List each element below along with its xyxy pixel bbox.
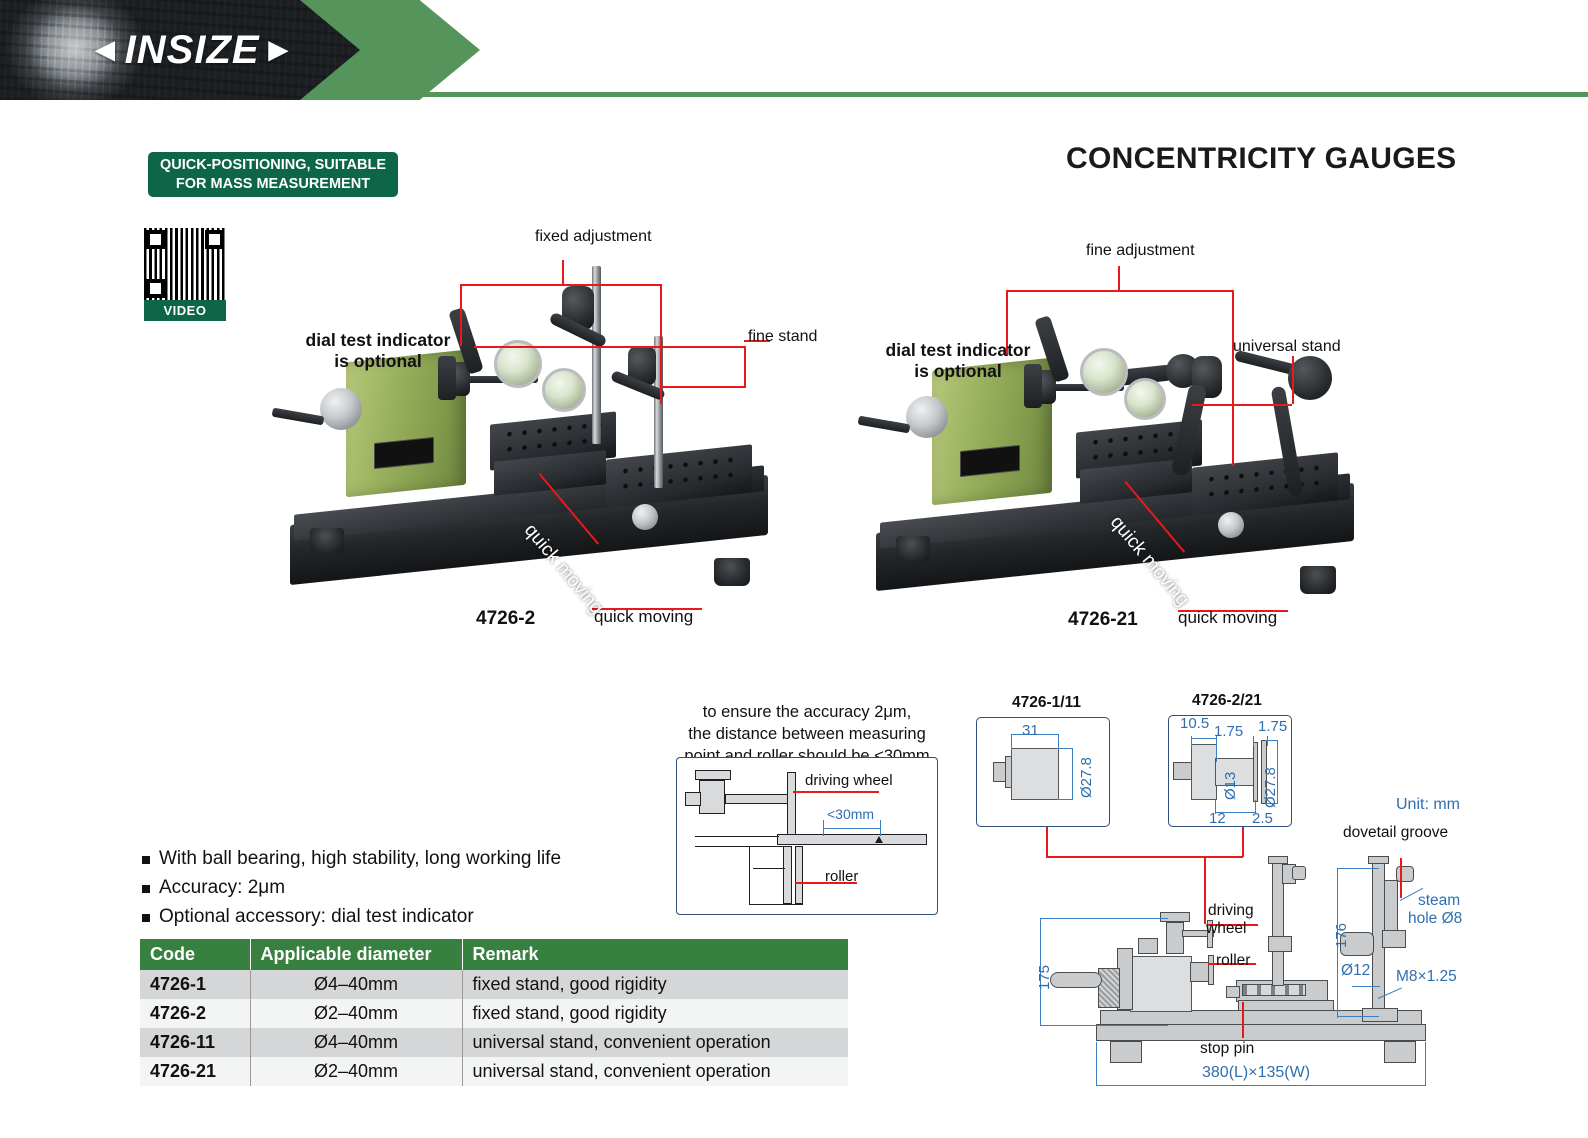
main-foot-left: [1110, 1041, 1142, 1063]
dim-176-tick-bottom: [1337, 1016, 1379, 1017]
dovetail-label: dovetail groove: [1343, 824, 1448, 842]
unit-note: Unit: mm: [1396, 796, 1460, 814]
detail-2-connector-v: [1242, 827, 1244, 857]
main-top-knob: [1138, 938, 1158, 954]
detail-2-d3: 1.75: [1258, 718, 1287, 735]
stop-pin-label: stop pin: [1200, 1040, 1254, 1058]
dim-175-tick-top: [1040, 918, 1168, 919]
main-foot-right: [1384, 1041, 1416, 1063]
detail-title-2: 4726-2/21: [1192, 692, 1262, 710]
detail-2-d2: 1.75: [1214, 723, 1243, 740]
detail-2-d5: Ø27.8: [1262, 767, 1279, 808]
detail-connector-h: [1046, 856, 1243, 858]
detail-2-d1: 10.5: [1180, 715, 1209, 732]
dim-footprint-line: [1096, 1085, 1426, 1086]
dim-d12-line: [1352, 986, 1380, 987]
main-column-1-cap: [1268, 856, 1288, 864]
detail-connector-down: [1204, 856, 1206, 924]
main-upper-block: [1166, 922, 1184, 954]
main-handle-lever: [1050, 972, 1102, 988]
detail-2-d6: 12: [1209, 810, 1226, 827]
d2-shaft: [1173, 762, 1193, 780]
steam-hole-label-1: steam: [1418, 892, 1460, 910]
dim-footprint-tick-r: [1425, 1042, 1426, 1086]
d1-dia-dim-line: [1072, 748, 1073, 800]
main-upper-cap: [1160, 912, 1190, 922]
d2-boss: [1191, 744, 1217, 800]
dim-d12-label: Ø12: [1341, 962, 1370, 980]
detail-1-diameter: Ø27.8: [1078, 757, 1095, 798]
detail-2-d7: 2.5: [1252, 810, 1273, 827]
dim-footprint-label: 380(L)×135(W): [1202, 1064, 1310, 1082]
d1-body: [1011, 748, 1059, 800]
main-stage-knob: [1226, 986, 1240, 998]
detail-1-connector-v: [1046, 827, 1048, 857]
main-headstock-body: [1130, 956, 1192, 1012]
main-base-plate: [1096, 1024, 1426, 1041]
d1-width-tick-l: [1011, 734, 1012, 750]
d2-t3: [1253, 736, 1254, 746]
dim-thread-label: M8×1.25: [1396, 968, 1457, 986]
stop-pin-leader: [1242, 1002, 1244, 1038]
dim-176-tick-top: [1337, 868, 1379, 869]
dim-footprint-tick-l: [1096, 1042, 1097, 1086]
main-holder-clamp: [1382, 930, 1406, 948]
d1-dia-tick-b: [1057, 799, 1073, 800]
main-column-1-knob: [1292, 866, 1306, 880]
technical-drawings: 4726-1/11 31 Ø27.8 4726-2/21 10.5 1.75 1…: [0, 0, 1588, 1138]
steam-hole-label-2: hole Ø8: [1408, 910, 1462, 928]
d2-disc-1: [1253, 742, 1258, 802]
dovetail-leader: [1400, 858, 1402, 898]
d2-dia-tick-t: [1265, 740, 1278, 741]
dim-176-label: 176: [1333, 923, 1350, 948]
main-holder-knob: [1396, 866, 1414, 882]
roller-label: roller: [1216, 952, 1250, 970]
main-column-2-foot: [1362, 1008, 1398, 1022]
main-roller: [1208, 955, 1214, 985]
dim-175-label: 175: [1036, 965, 1053, 990]
main-column-2-cap: [1368, 856, 1389, 864]
main-knurled-knob: [1098, 968, 1120, 1008]
main-column-1-collar: [1268, 936, 1292, 952]
d1-dia-tick-t: [1057, 748, 1073, 749]
main-stage-base: [1238, 1000, 1334, 1011]
driving-wheel-label-line2: wheel: [1206, 920, 1247, 938]
main-holder-arm: [1384, 880, 1398, 932]
dim-175-tick-bottom: [1040, 1025, 1168, 1026]
driving-wheel-label-line1: driving: [1208, 902, 1254, 920]
detail-2-d4: Ø13: [1222, 772, 1239, 800]
detail-title-1: 4726-1/11: [1012, 694, 1081, 712]
detail-1-width: 31: [1022, 722, 1039, 739]
